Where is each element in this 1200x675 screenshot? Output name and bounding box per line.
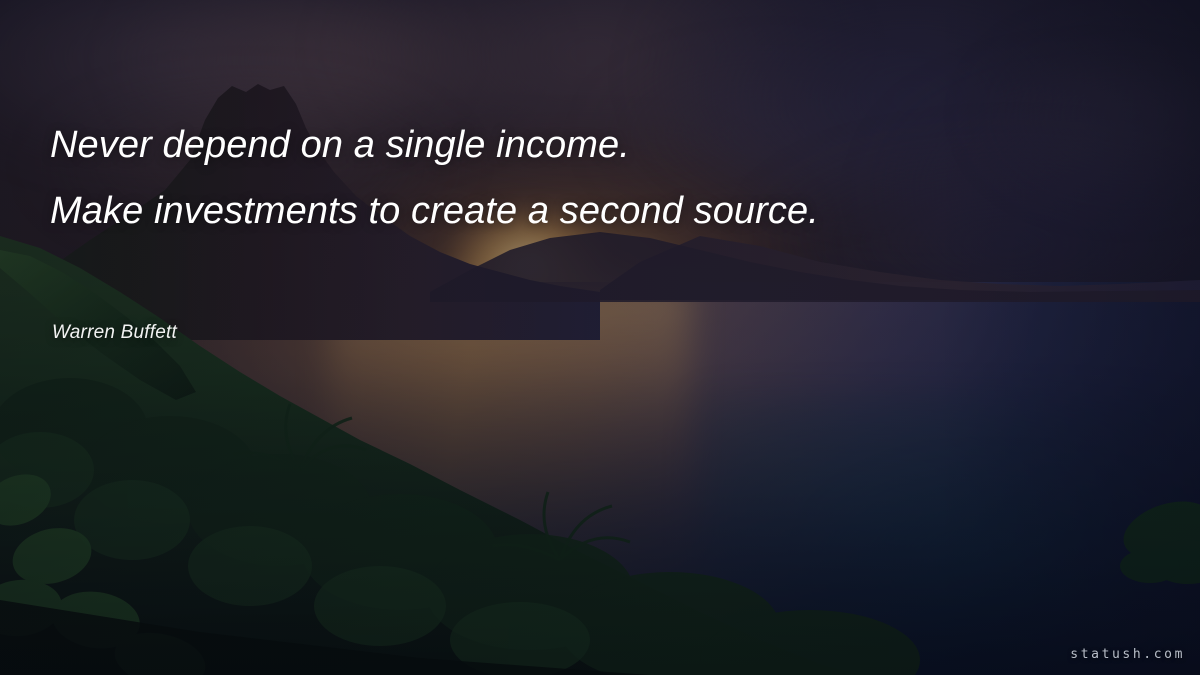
quote-line-1: Never depend on a single income. [50, 112, 950, 178]
site-watermark: statush.com [1070, 647, 1185, 662]
quote-card: Never depend on a single income. Make in… [0, 0, 1200, 675]
quote-line-2: Make investments to create a second sour… [50, 178, 950, 244]
quote-text: Never depend on a single income. Make in… [50, 112, 950, 244]
side-darkening-overlay [0, 0, 1200, 675]
quote-author: Warren Buffett [52, 322, 177, 344]
